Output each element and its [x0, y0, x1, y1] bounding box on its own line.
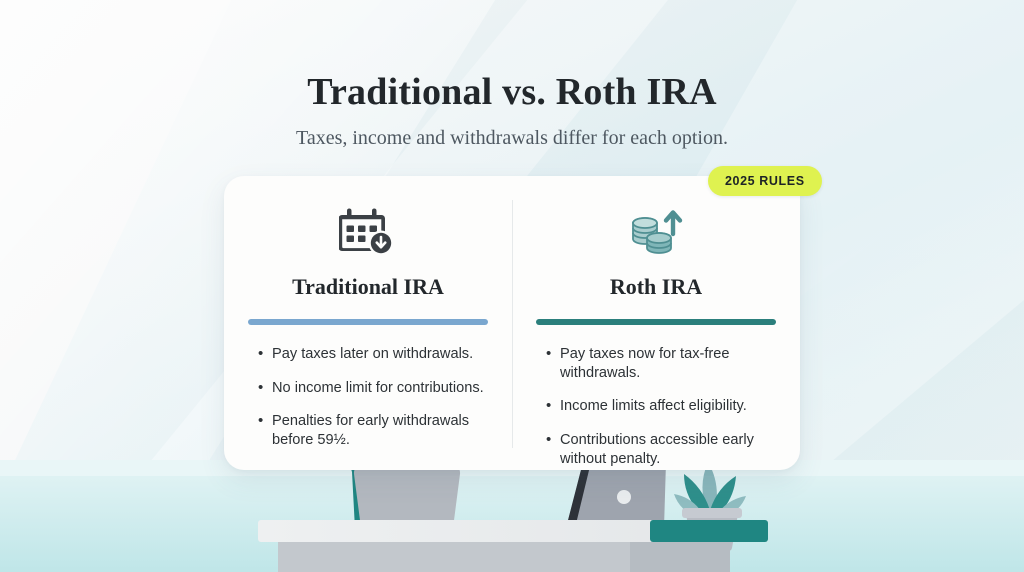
- bullet-list-roth: Pay taxes now for tax-free withdrawals. …: [534, 345, 778, 468]
- list-item: No income limit for contributions.: [258, 379, 490, 398]
- list-item: Penalties for early withdrawals before 5…: [258, 412, 490, 449]
- coins-up-arrow-icon: [534, 204, 778, 260]
- column-title-traditional: Traditional IRA: [246, 274, 490, 300]
- page-header: Traditional vs. Roth IRA Taxes, income a…: [0, 72, 1024, 150]
- column-roth-ira: Roth IRA Pay taxes now for tax-free with…: [512, 176, 800, 470]
- calendar-download-icon: [246, 204, 490, 260]
- rules-year-badge: 2025 RULES: [708, 166, 822, 196]
- page-subtitle: Taxes, income and withdrawals differ for…: [0, 126, 1024, 150]
- column-rule-roth: [536, 319, 776, 325]
- column-title-roth: Roth IRA: [534, 274, 778, 300]
- bullet-list-traditional: Pay taxes later on withdrawals. No incom…: [246, 345, 490, 450]
- page-title: Traditional vs. Roth IRA: [0, 72, 1024, 114]
- list-item: Pay taxes now for tax-free withdrawals.: [546, 345, 778, 382]
- column-rule-traditional: [248, 319, 488, 325]
- comparison-card: Traditional IRA Pay taxes later on withd…: [224, 176, 800, 470]
- column-traditional-ira: Traditional IRA Pay taxes later on withd…: [224, 176, 512, 470]
- office-chair: [351, 461, 460, 529]
- list-item: Income limits affect eligibility.: [546, 397, 778, 416]
- column-divider: [512, 200, 513, 448]
- desk: [258, 520, 768, 572]
- list-item: Pay taxes later on withdrawals.: [258, 345, 490, 364]
- list-item: Contributions accessible early without p…: [546, 431, 778, 468]
